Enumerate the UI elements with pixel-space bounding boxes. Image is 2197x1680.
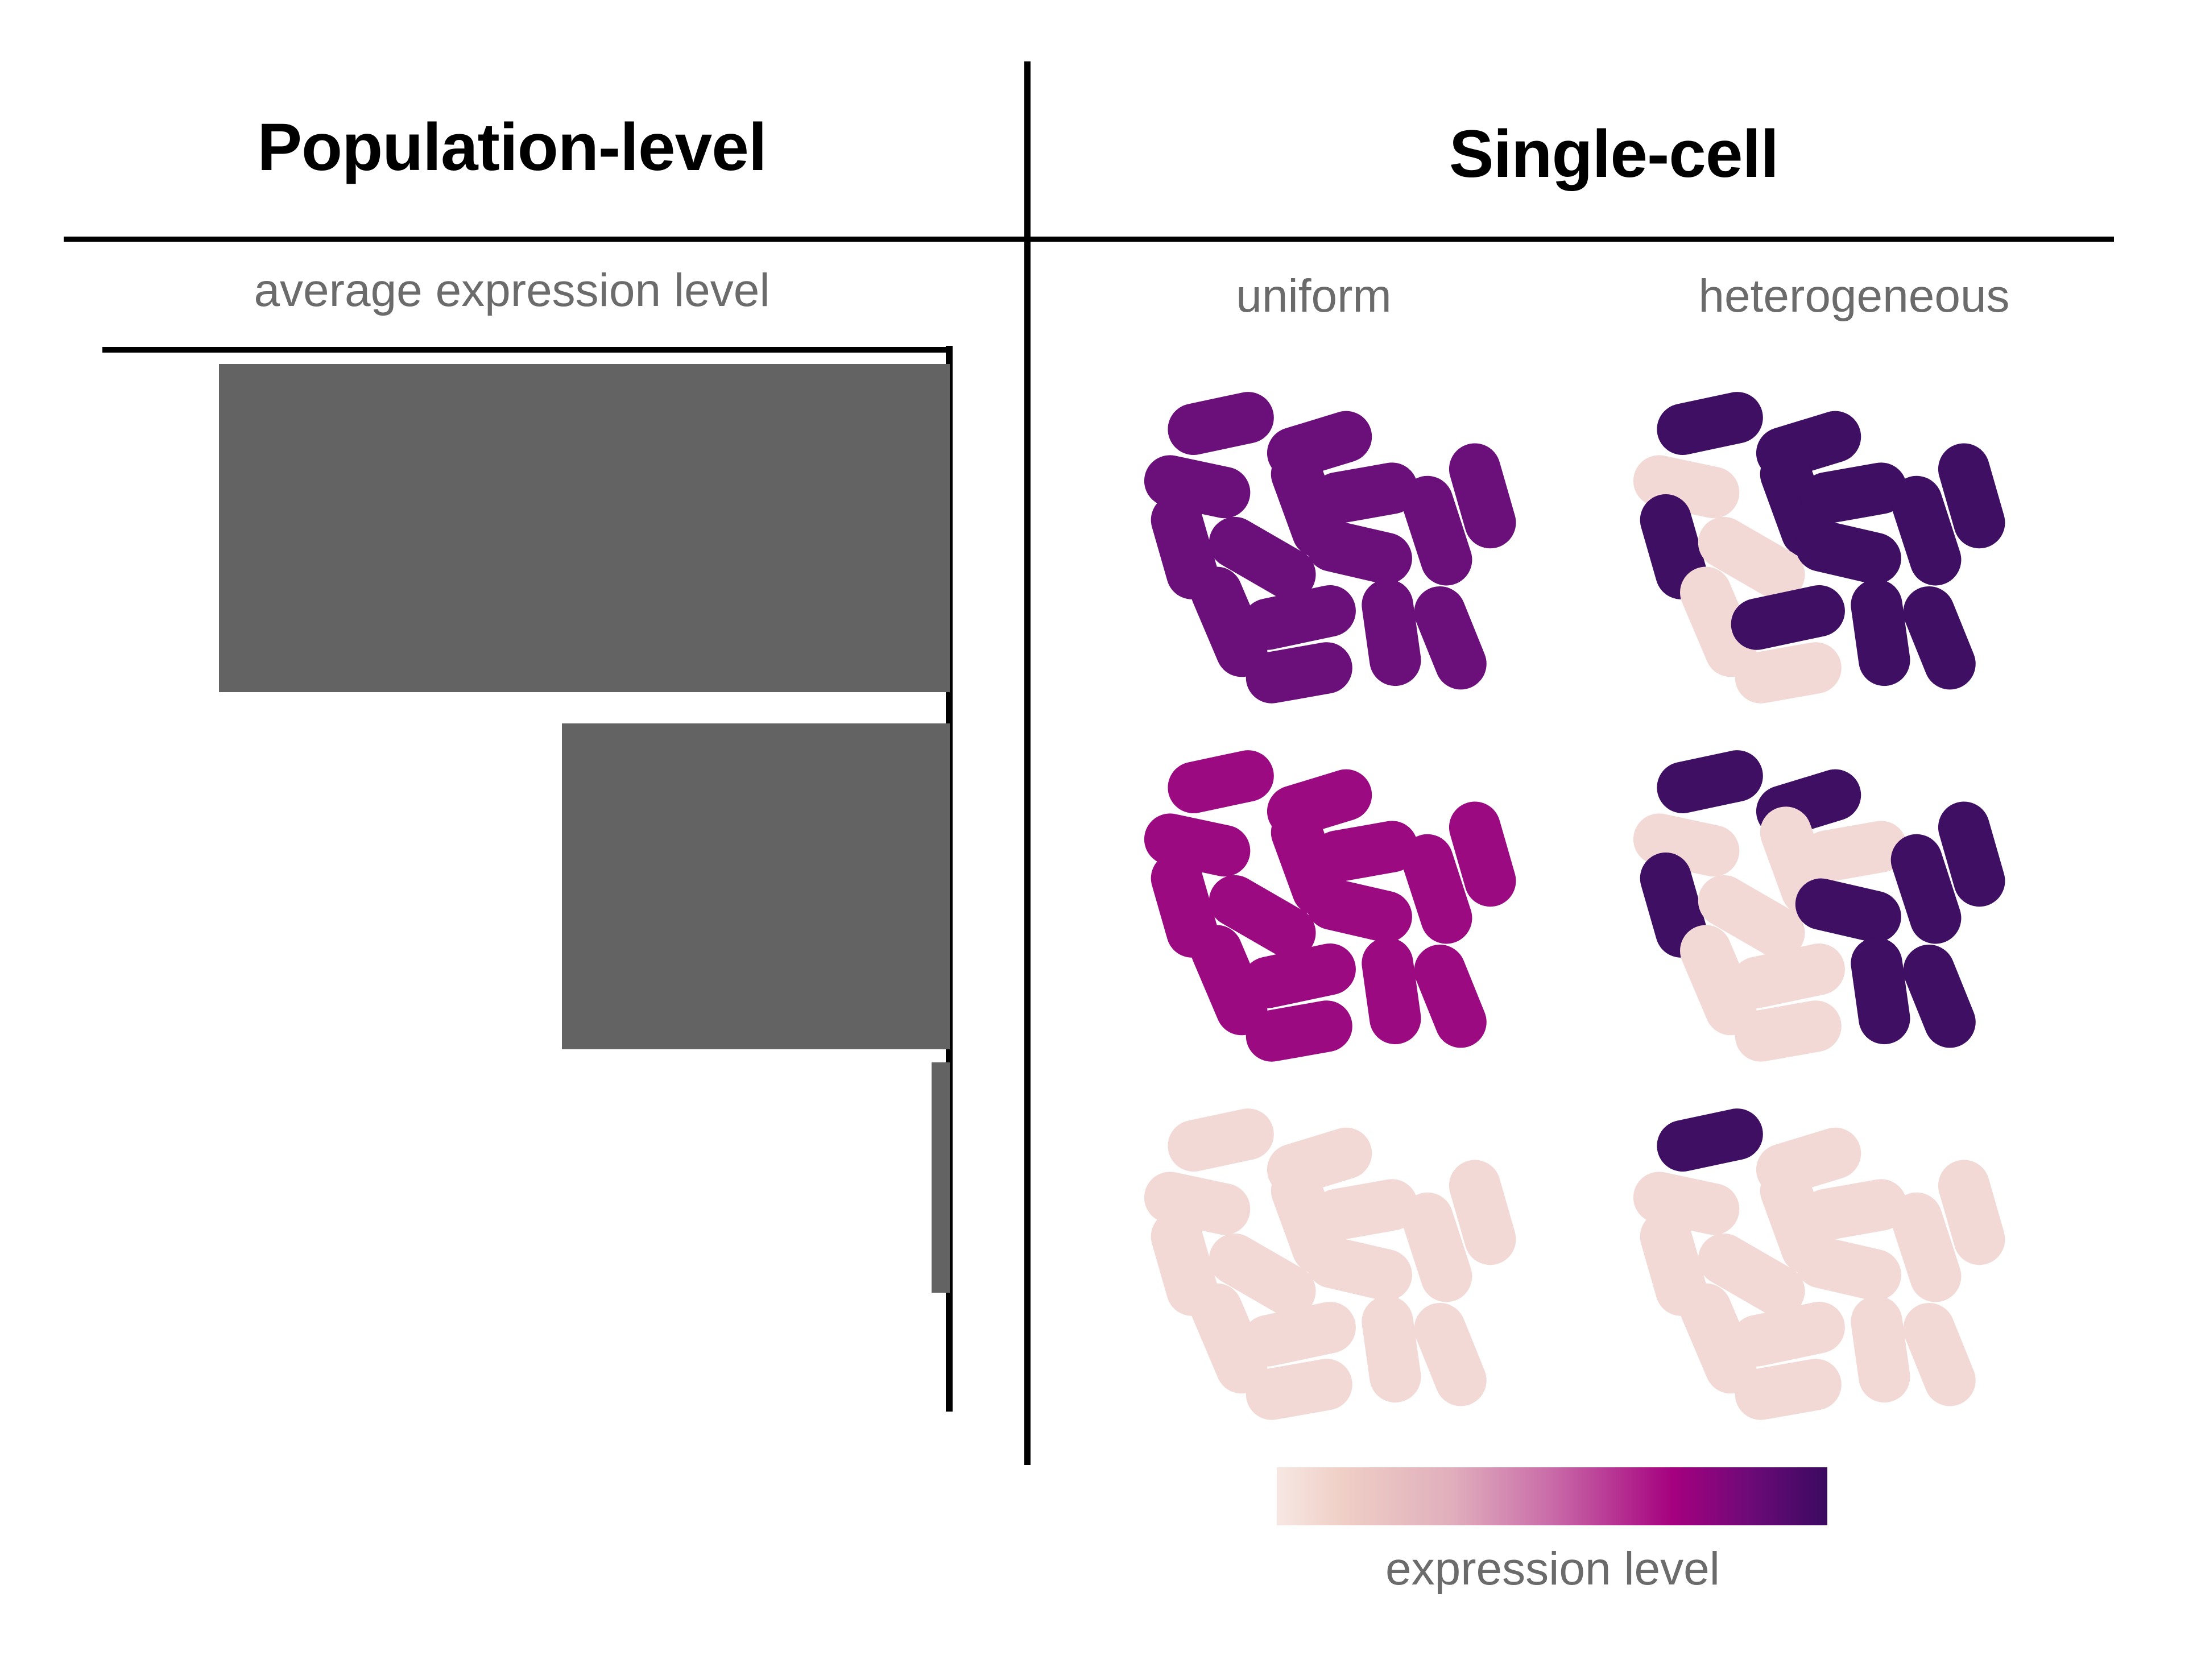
- cell-rod: [1163, 746, 1279, 818]
- cell-rod: [1896, 937, 1984, 1056]
- cell-rod: [1847, 934, 1913, 1048]
- bar-chart-top-axis: [102, 347, 952, 353]
- cell-rod: [1301, 1232, 1417, 1306]
- cell-rod: [1406, 578, 1495, 697]
- cell-cluster-heterogeneous-row2: [1584, 702, 2016, 1078]
- bar-chart: [0, 0, 1024, 1680]
- cell-rod: [1301, 874, 1417, 948]
- cell-rod: [1358, 934, 1424, 1048]
- cell-cluster-uniform-row2: [1095, 702, 1527, 1078]
- cell-rod: [1237, 581, 1360, 655]
- column-label-uniform: uniform: [1103, 273, 1524, 320]
- cell-rod: [1896, 578, 1984, 697]
- cell-rod: [1237, 939, 1360, 1013]
- cell-cluster-uniform-row3: [1095, 1061, 1527, 1436]
- column-label-heterogeneous: heterogeneous: [1581, 273, 2127, 320]
- cell-rod: [1163, 1104, 1279, 1177]
- cell-rod: [1896, 1295, 1984, 1414]
- table-row: [219, 364, 950, 692]
- page-title-single-cell: Single-cell: [1031, 121, 2197, 188]
- cell-rod: [1847, 576, 1913, 689]
- cell-rod: [1652, 1104, 1768, 1177]
- cell-rod: [1301, 515, 1417, 590]
- table-row: [932, 1062, 950, 1293]
- colorbar-label: expression level: [1240, 1546, 1865, 1592]
- cell-rod: [1406, 937, 1495, 1056]
- cell-cluster-heterogeneous-row3: [1584, 1061, 2016, 1436]
- cell-rod: [1726, 939, 1850, 1013]
- cell-rod: [1163, 387, 1279, 460]
- cell-rod: [1790, 515, 1906, 590]
- cell-rod: [1237, 1297, 1360, 1372]
- figure-canvas: Population-level Single-cell average exp…: [0, 0, 2197, 1680]
- cell-rod: [1790, 1232, 1906, 1306]
- cell-rod: [1726, 1297, 1850, 1372]
- cell-rod: [1406, 1295, 1495, 1414]
- cell-rod: [1358, 576, 1424, 689]
- cell-rod: [1652, 746, 1768, 818]
- cell-cluster-heterogeneous-row1: [1584, 344, 2016, 719]
- cell-rod: [1652, 387, 1768, 460]
- cell-rod: [1358, 1293, 1424, 1406]
- cell-rod: [1790, 874, 1906, 948]
- expression-level-colorbar: [1277, 1467, 1827, 1525]
- cell-rod: [1847, 1293, 1913, 1406]
- cell-rod: [1726, 581, 1850, 655]
- cell-cluster-uniform-row1: [1095, 344, 1527, 719]
- panel-divider-rule: [1024, 61, 1031, 1465]
- table-row: [562, 723, 950, 1049]
